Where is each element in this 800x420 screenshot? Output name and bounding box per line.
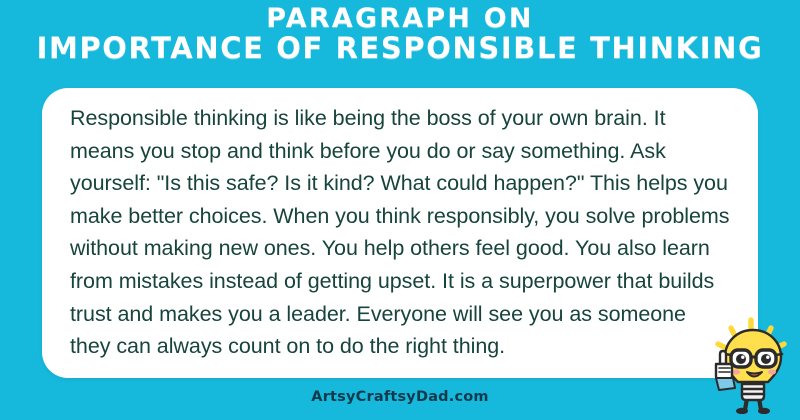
page-title-line-1: Paragraph On [0,4,800,33]
paragraph-body-text: Responsible thinking is like being the b… [70,102,730,363]
page-title-line-2: Importance Of Responsible Thinking [0,33,800,64]
site-credit: ArtsyCraftsyDad.com [311,389,488,405]
content-card: Responsible thinking is like being the b… [42,88,758,378]
footer: ArtsyCraftsyDad.com [0,388,800,406]
page-title: Paragraph On Importance Of Responsible T… [0,4,800,64]
